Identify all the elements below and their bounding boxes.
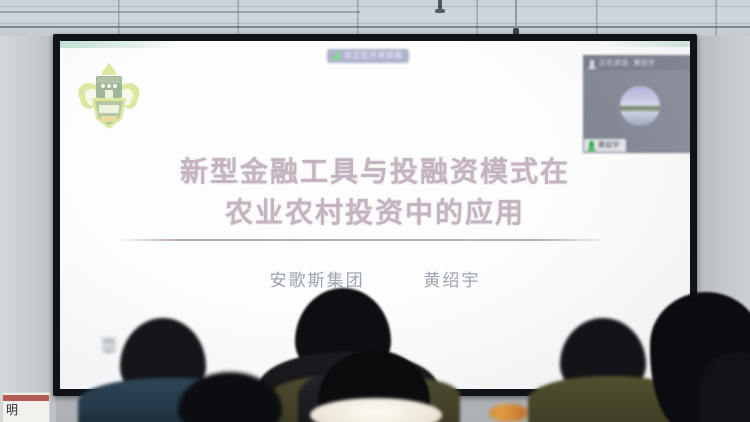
slide-presenters: 安歌斯集团 黄绍宇 — [60, 266, 690, 291]
avatar-water — [620, 111, 660, 126]
video-panel-footer: 黄绍宇 — [584, 139, 626, 152]
screen-edge-tint-right — [600, 41, 690, 47]
wall-sign-red-bar — [3, 395, 49, 401]
screen-edge-tint-left — [60, 41, 180, 48]
video-panel-header: 正在讲话: 黄绍宇 — [584, 56, 690, 70]
participant-name-label: 黄绍宇 — [598, 141, 620, 149]
microphone-icon — [590, 60, 594, 67]
slide-title-line-1: 新型金融工具与投融资模式在 — [60, 151, 690, 192]
slide-title: 新型金融工具与投融资模式在 农业农村投资中的应用 — [60, 151, 690, 233]
microphone-active-icon — [589, 141, 594, 149]
ceiling-sprinkler-icon — [438, 0, 442, 13]
display-screen: 您正在共享屏幕 — [60, 41, 690, 389]
active-speaker-label: 正在讲话: 黄绍宇 — [599, 59, 655, 67]
wall-sign-text: 明 — [6, 404, 19, 417]
angus-group-crest-logo — [72, 59, 146, 135]
signal-bars-icon — [332, 51, 340, 60]
avatar-sky — [620, 86, 660, 107]
presenter-organization: 安歌斯集团 — [270, 266, 365, 291]
ceiling-beam — [0, 26, 750, 28]
wall-sign: 明 — [2, 392, 50, 422]
meeting-room-photo: 明 您正在共享屏幕 — [0, 0, 750, 422]
ceiling-beam-secondary — [0, 11, 360, 13]
right-wall — [694, 36, 750, 422]
ceiling-drop-pipe — [515, 0, 517, 35]
screen-share-banner[interactable]: 您正在共享屏幕 — [327, 49, 409, 63]
slide-title-line-2: 农业农村投资中的应用 — [60, 192, 690, 233]
slide-divider — [122, 239, 602, 241]
screen-corner-badge — [102, 337, 116, 352]
screen-share-banner-label: 您正在共享屏幕 — [344, 51, 403, 60]
presenter-name: 黄绍宇 — [423, 266, 480, 291]
landscape-avatar — [620, 86, 660, 126]
left-wall — [0, 36, 56, 422]
meeting-video-panel[interactable]: 正在讲话: 黄绍宇 黄绍宇 — [583, 55, 690, 153]
